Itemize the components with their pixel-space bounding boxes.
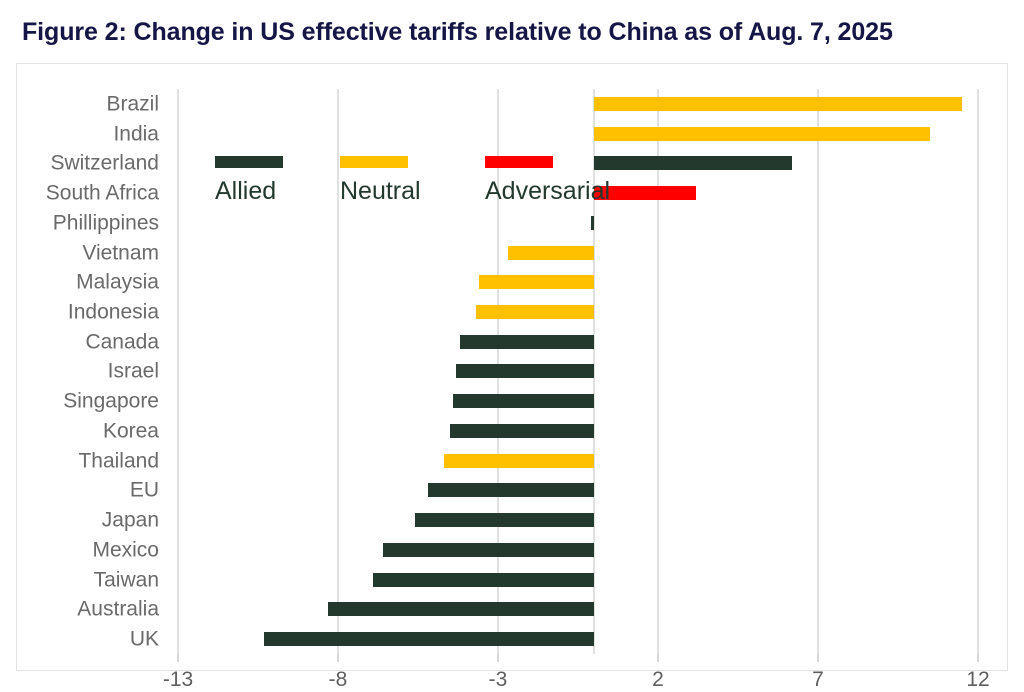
x-tick-label: 12 <box>966 668 989 692</box>
legend-swatch-adversarial <box>485 156 553 168</box>
page-title: Figure 2: Change in US effective tariffs… <box>22 18 893 47</box>
category-label-singapore: Singapore <box>63 391 159 412</box>
x-tick-label: 2 <box>652 668 664 692</box>
legend-item-neutral[interactable]: Neutral <box>340 156 421 206</box>
x-tick-label: 7 <box>812 668 824 692</box>
chart-row: Vietnam <box>178 238 978 268</box>
bar-uk[interactable] <box>264 632 594 646</box>
category-label-indonesia: Indonesia <box>68 302 159 323</box>
legend-label-adversarial: Adversarial <box>485 177 610 206</box>
chart-frame: BrazilIndiaSwitzerlandSouth AfricaPhilli… <box>16 63 1008 671</box>
bar-malaysia[interactable] <box>479 275 594 289</box>
chart-row: Malaysia <box>178 267 978 297</box>
bar-japan[interactable] <box>415 513 594 527</box>
category-label-australia: Australia <box>77 599 159 620</box>
x-tick-label: -13 <box>163 668 193 692</box>
category-label-israel: Israel <box>108 361 159 382</box>
category-label-eu: EU <box>130 480 159 501</box>
category-label-japan: Japan <box>102 510 159 531</box>
legend-item-adversarial[interactable]: Adversarial <box>485 156 610 206</box>
bar-india[interactable] <box>594 127 930 141</box>
chart-row: EU <box>178 476 978 506</box>
chart-row: India <box>178 119 978 149</box>
category-label-mexico: Mexico <box>92 539 159 560</box>
category-label-taiwan: Taiwan <box>94 569 159 590</box>
bar-mexico[interactable] <box>383 543 594 557</box>
chart-row: Indonesia <box>178 297 978 327</box>
chart-row: UK <box>178 624 978 654</box>
x-tick-label: -3 <box>489 668 508 692</box>
bar-vietnam[interactable] <box>508 246 594 260</box>
bar-korea[interactable] <box>450 424 594 438</box>
bar-eu[interactable] <box>428 483 594 497</box>
chart-row: Korea <box>178 416 978 446</box>
chart-row: Australia <box>178 595 978 625</box>
tick-mark-2 <box>657 654 659 662</box>
bar-taiwan[interactable] <box>373 573 594 587</box>
chart-row: Mexico <box>178 535 978 565</box>
chart-row: Japan <box>178 505 978 535</box>
tick-mark-12 <box>977 654 979 662</box>
category-label-canada: Canada <box>85 331 159 352</box>
category-label-south-africa: South Africa <box>46 183 159 204</box>
chart-row: Thailand <box>178 446 978 476</box>
legend-label-neutral: Neutral <box>340 177 421 206</box>
bar-switzerland[interactable] <box>594 156 792 170</box>
category-label-brazil: Brazil <box>106 93 159 114</box>
tick-mark--3 <box>497 654 499 662</box>
category-label-uk: UK <box>130 629 159 650</box>
category-label-vietnam: Vietnam <box>82 242 159 263</box>
chart-row: Canada <box>178 327 978 357</box>
chart-row: Taiwan <box>178 565 978 595</box>
chart-legend: AlliedNeutralAdversarial <box>195 156 615 226</box>
bar-indonesia[interactable] <box>476 305 594 319</box>
legend-item-allied[interactable]: Allied <box>215 156 283 206</box>
tick-mark--8 <box>337 654 339 662</box>
bar-israel[interactable] <box>456 364 594 378</box>
tick-mark--13 <box>177 654 179 662</box>
chart-row: Israel <box>178 357 978 387</box>
legend-label-allied: Allied <box>215 177 283 206</box>
chart-row: Singapore <box>178 386 978 416</box>
chart-row: Brazil <box>178 89 978 119</box>
tick-mark-7 <box>817 654 819 662</box>
bar-canada[interactable] <box>460 335 594 349</box>
category-label-phillippines: Phillippines <box>53 212 159 233</box>
category-label-malaysia: Malaysia <box>76 272 159 293</box>
category-label-thailand: Thailand <box>78 450 159 471</box>
bar-australia[interactable] <box>328 602 594 616</box>
bar-brazil[interactable] <box>594 97 962 111</box>
x-tick-label: -8 <box>329 668 348 692</box>
category-label-switzerland: Switzerland <box>50 153 159 174</box>
category-label-korea: Korea <box>103 420 159 441</box>
bar-thailand[interactable] <box>444 454 594 468</box>
bar-singapore[interactable] <box>453 394 594 408</box>
legend-swatch-neutral <box>340 156 408 168</box>
legend-swatch-allied <box>215 156 283 168</box>
category-label-india: India <box>113 123 159 144</box>
